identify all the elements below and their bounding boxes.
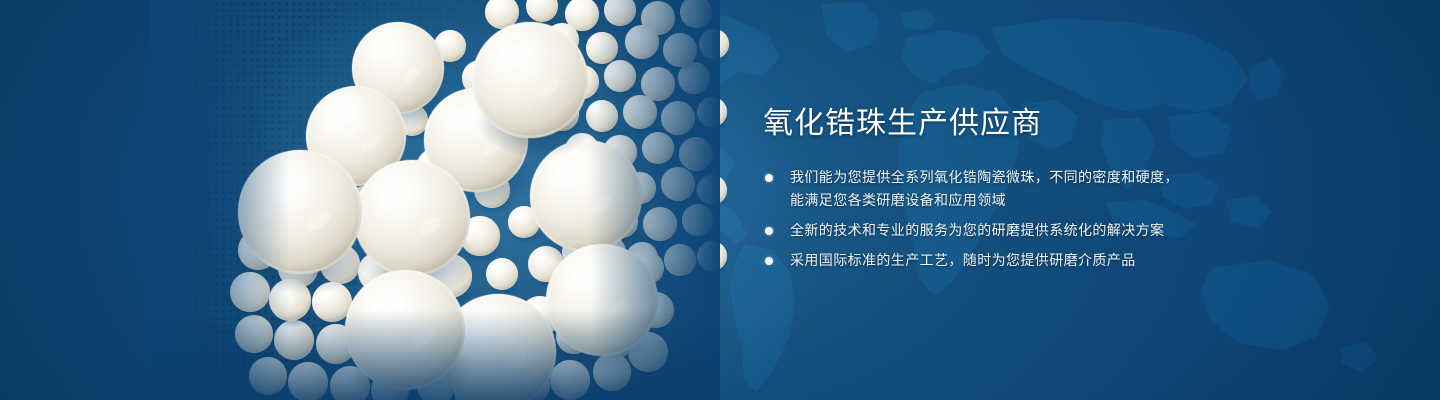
feature-text-line1: 采用国际标准的生产工艺，随时为您提供研磨介质产品: [790, 249, 1230, 272]
feature-list: 我们能为您提供全系列氧化锆陶瓷微珠，不同的密度和硬度， 能满足您各类研磨设备和应…: [763, 166, 1363, 272]
list-item: 我们能为您提供全系列氧化锆陶瓷微珠，不同的密度和硬度， 能满足您各类研磨设备和应…: [763, 166, 1230, 212]
photo-fade-bottom: [150, 310, 720, 400]
feature-text-line1: 全新的技术和专业的服务为您的研磨提供系统化的解决方案: [790, 219, 1230, 242]
product-photo: [150, 0, 720, 400]
hero-banner: 氧化锆珠生产供应商 我们能为您提供全系列氧化锆陶瓷微珠，不同的密度和硬度， 能满…: [0, 0, 1440, 400]
list-item: 采用国际标准的生产工艺，随时为您提供研磨介质产品: [763, 249, 1230, 272]
page-title: 氧化锆珠生产供应商: [763, 104, 1363, 144]
bullet-dot-icon: [765, 174, 773, 182]
feature-text-line2: 能满足您各类研磨设备和应用领域: [790, 189, 1230, 212]
bullet-dot-icon: [765, 227, 773, 235]
banner-text-column: 氧化锆珠生产供应商 我们能为您提供全系列氧化锆陶瓷微珠，不同的密度和硬度， 能满…: [763, 104, 1363, 272]
bullet-dot-icon: [765, 257, 773, 265]
feature-text-line1: 我们能为您提供全系列氧化锆陶瓷微珠，不同的密度和硬度，: [790, 166, 1230, 189]
list-item: 全新的技术和专业的服务为您的研磨提供系统化的解决方案: [763, 219, 1230, 242]
